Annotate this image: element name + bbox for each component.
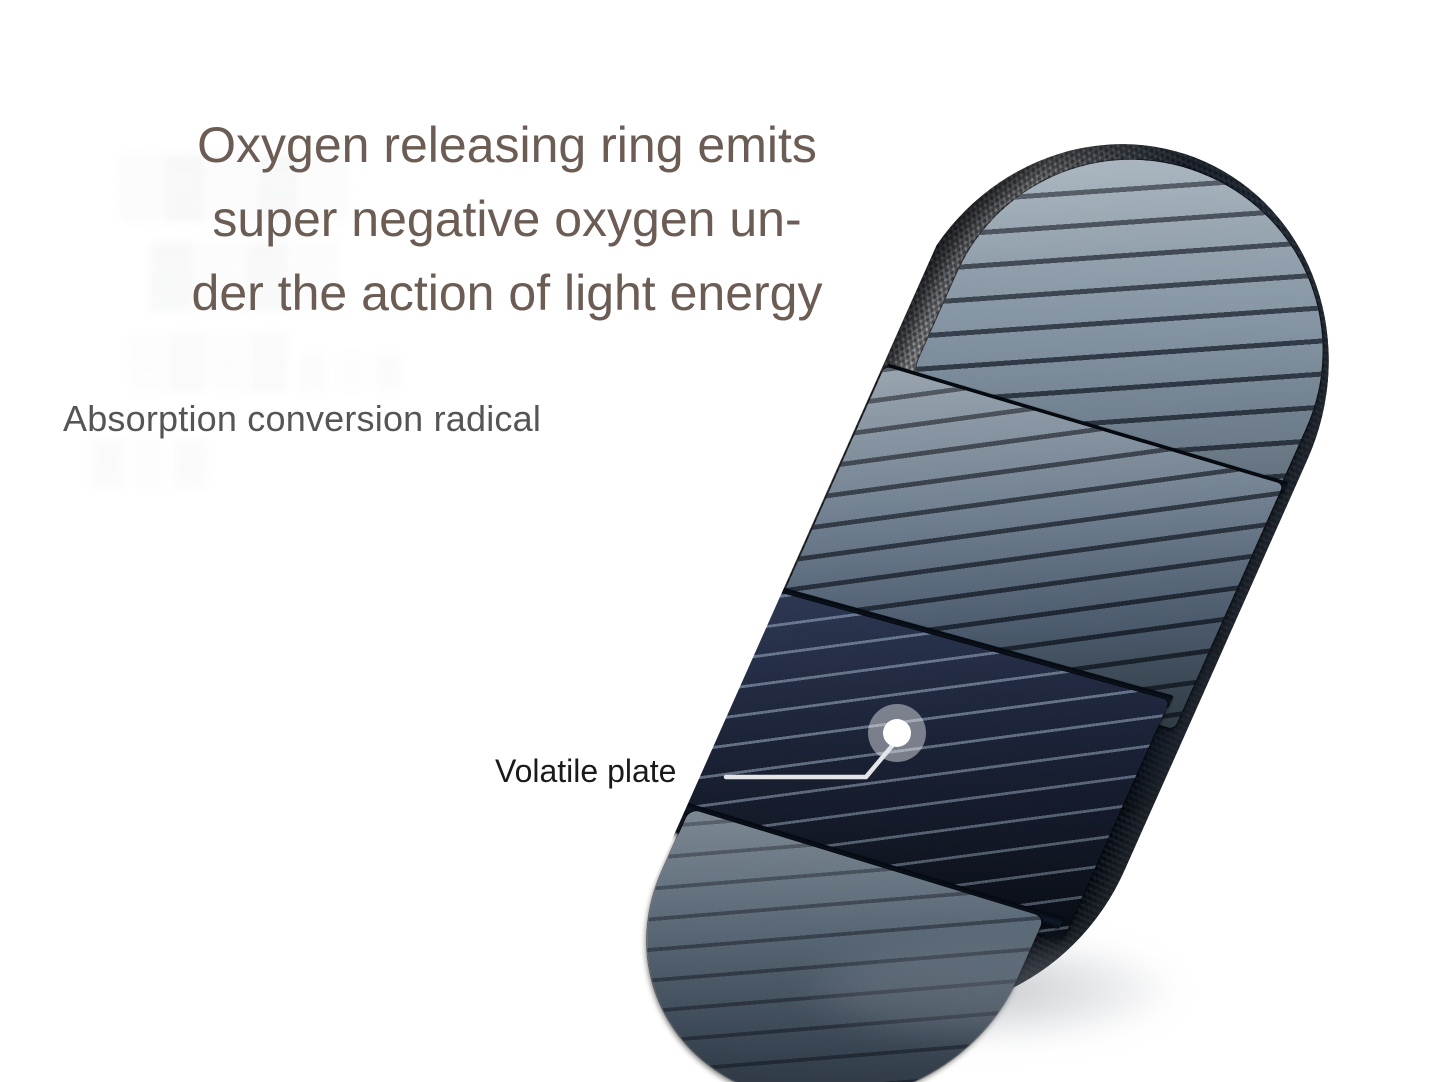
headline-line-2: super negative oxygen un- <box>92 182 922 256</box>
headline-line-3: der the action of light energy <box>92 256 922 330</box>
bracelet-drop-shadow <box>790 935 1180 1045</box>
subtitle: Absorption conversion radical <box>63 396 541 442</box>
headline-line-1: Oxygen releasing ring emits <box>92 108 922 182</box>
callout-label-volatile-plate: Volatile plate <box>495 752 676 790</box>
product-marketing-image: ░▒░▒░ ▒░▒░ ░▒░▒ ▒░▒ ▒░▒ ░▒░▒ JUMOU <box>0 0 1445 1082</box>
headline: Oxygen releasing ring emits super negati… <box>92 108 922 330</box>
